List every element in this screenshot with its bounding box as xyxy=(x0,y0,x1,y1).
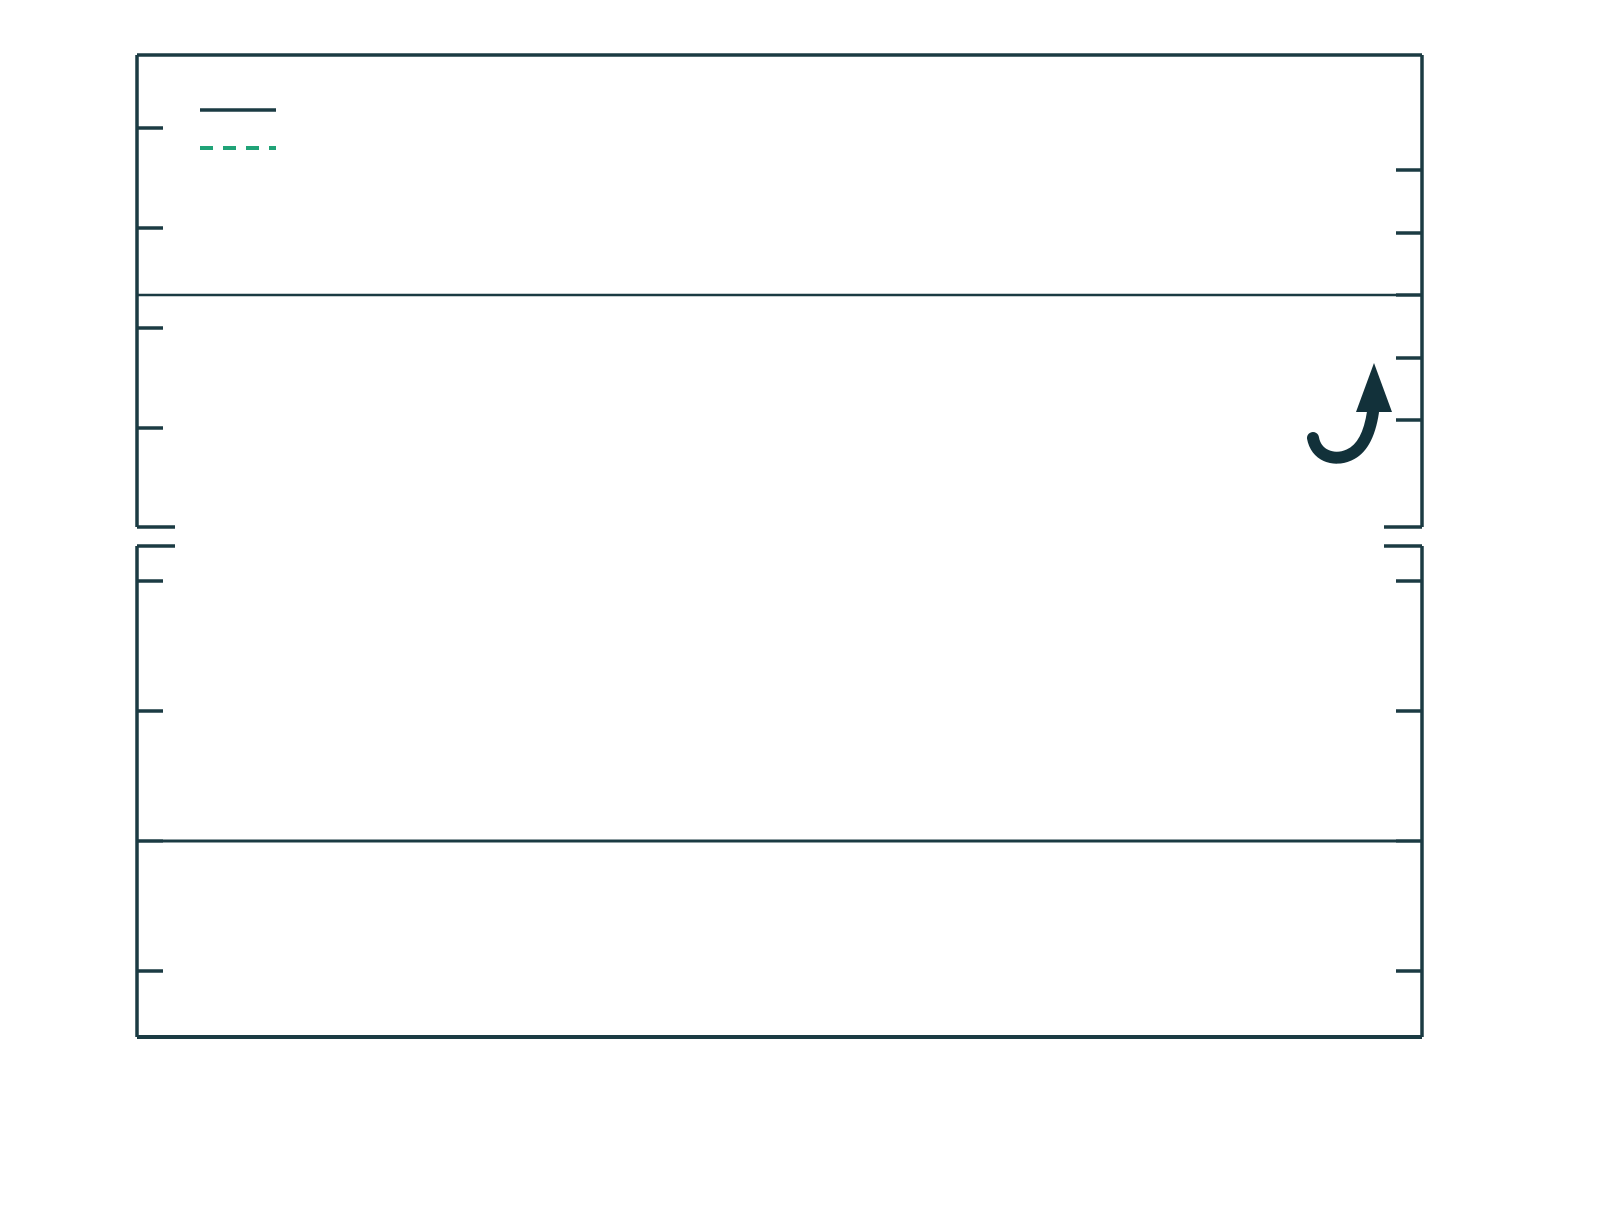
legend xyxy=(200,110,276,148)
bca-research-capex-figure xyxy=(0,0,1600,1218)
top-panel-right-ticks xyxy=(1396,170,1422,420)
bottom-panel-left-ticks xyxy=(137,581,163,971)
bottom-panel-right-ticks xyxy=(1396,581,1422,971)
bottom-panel xyxy=(137,546,1422,1037)
chart-page xyxy=(0,0,1600,1218)
top-panel-left-ticks xyxy=(137,128,163,428)
curved-up-arrow-icon xyxy=(1313,363,1392,458)
top-panel xyxy=(137,55,1422,527)
